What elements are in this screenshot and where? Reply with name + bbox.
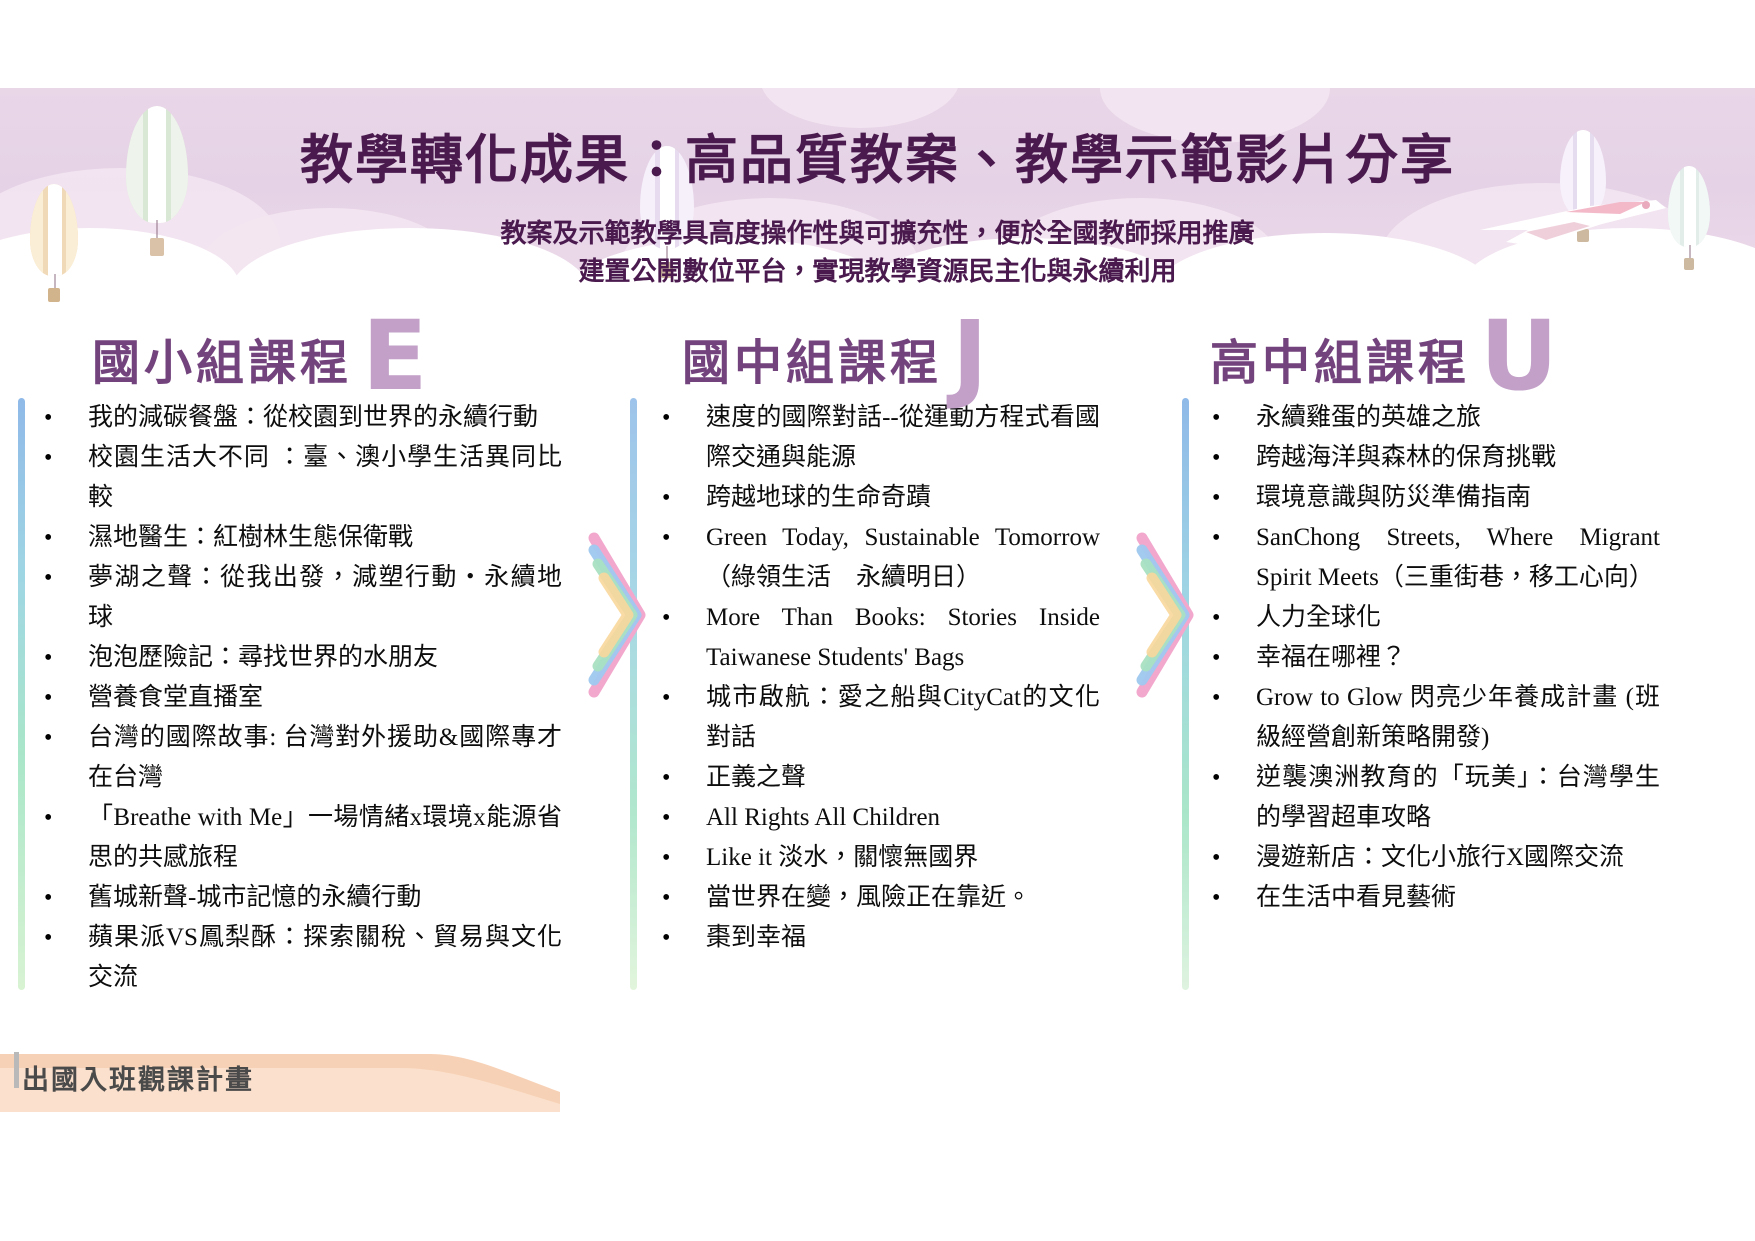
list-item[interactable]: 濕地醫生：紅樹林生態保衛戰 <box>22 518 562 558</box>
list-item[interactable]: 城市啟航：愛之船與CityCat的文化對話 <box>640 678 1100 758</box>
list-item[interactable]: 永續雞蛋的英雄之旅 <box>1190 398 1660 438</box>
list-item[interactable]: 「Breathe with Me」一場情緒x環境x能源省思的共感旅程 <box>22 798 562 878</box>
list-item[interactable]: Like it 淡水，關懷無國界 <box>640 838 1100 878</box>
page-subtitle: 教案及示範教學具高度操作性與可擴充性，便於全國教師採用推廣 建置公開數位平台，實… <box>0 215 1755 291</box>
list-item[interactable]: 夢湖之聲：從我出發，減塑行動‧永續地球 <box>22 558 562 638</box>
list-item[interactable]: 在生活中看見藝術 <box>1190 878 1660 918</box>
list-item[interactable]: 正義之聲 <box>640 758 1100 798</box>
slide-canvas: 教學轉化成果：高品質教案、教學示範影片分享 教案及示範教學具高度操作性與可擴充性… <box>0 0 1755 1241</box>
column-heading-junior-high: 國中組課程 J <box>682 310 988 388</box>
column-letter-badge: J <box>952 317 988 396</box>
list-item[interactable]: Grow to Glow 閃亮少年養成計畫 (班級經營創新策略開發) <box>1190 678 1660 758</box>
page-title: 教學轉化成果：高品質教案、教學示範影片分享 <box>0 118 1755 194</box>
subtitle-line-2: 建置公開數位平台，實現教學資源民主化與永續利用 <box>0 253 1755 291</box>
list-item[interactable]: 泡泡歷險記：尋找世界的水朋友 <box>22 638 562 678</box>
list-item[interactable]: 棗到幸福 <box>640 918 1100 958</box>
column-letter-badge: E <box>362 317 428 396</box>
list-item[interactable]: 速度的國際對話--從運動方程式看國際交通與能源 <box>640 398 1100 478</box>
course-list: 永續雞蛋的英雄之旅 跨越海洋與森林的保育挑戰 環境意識與防災準備指南 SanCh… <box>1190 398 1660 918</box>
footer-accent-bar <box>14 1052 19 1088</box>
list-item[interactable]: 當世界在變，風險正在靠近。 <box>640 878 1100 918</box>
list-item[interactable]: 台灣的國際故事: 台灣對外援助&國際專才在台灣 <box>22 718 562 798</box>
list-item[interactable]: More Than Books: Stories Inside Taiwanes… <box>640 598 1100 678</box>
list-item[interactable]: 營養食堂直播室 <box>22 678 562 718</box>
column-heading-label: 國中組課程 <box>682 340 942 388</box>
course-list: 速度的國際對話--從運動方程式看國際交通與能源 跨越地球的生命奇蹟 Green … <box>640 398 1100 958</box>
list-item[interactable]: 蘋果派VS鳳梨酥：探索關稅、貿易與文化交流 <box>22 918 562 998</box>
list-item[interactable]: All Rights All Children <box>640 798 1100 838</box>
list-item[interactable]: 跨越海洋與森林的保育挑戰 <box>1190 438 1660 478</box>
course-list-elementary: 我的減碳餐盤：從校園到世界的永續行動 校園生活大不同 ：臺、澳小學生活異同比較 … <box>22 398 562 998</box>
column-letter-badge: U <box>1480 317 1558 396</box>
list-item[interactable]: 環境意識與防災準備指南 <box>1190 478 1660 518</box>
subtitle-line-1: 教案及示範教學具高度操作性與可擴充性，便於全國教師採用推廣 <box>0 215 1755 253</box>
column-heading-label: 高中組課程 <box>1210 340 1470 388</box>
column-heading-senior-high: 高中組課程 U <box>1210 310 1558 388</box>
list-item[interactable]: 我的減碳餐盤：從校園到世界的永續行動 <box>22 398 562 438</box>
footer-label: 出國入班觀課計畫 <box>22 1058 254 1097</box>
column-heading-label: 國小組課程 <box>92 340 352 388</box>
list-item[interactable]: 人力全球化 <box>1190 598 1660 638</box>
course-list-junior-high: 速度的國際對話--從運動方程式看國際交通與能源 跨越地球的生命奇蹟 Green … <box>640 398 1100 958</box>
list-item[interactable]: 跨越地球的生命奇蹟 <box>640 478 1100 518</box>
list-item[interactable]: SanChong Streets, Where Migrant Spirit M… <box>1190 518 1660 598</box>
list-item[interactable]: 舊城新聲-城市記憶的永續行動 <box>22 878 562 918</box>
list-item[interactable]: 校園生活大不同 ：臺、澳小學生活異同比較 <box>22 438 562 518</box>
column-heading-elementary: 國小組課程 E <box>92 310 428 388</box>
list-item[interactable]: 逆襲澳洲教育的「玩美」：台灣學生的學習超車攻略 <box>1190 758 1660 838</box>
list-item[interactable]: 幸福在哪裡？ <box>1190 638 1660 678</box>
course-list-senior-high: 永續雞蛋的英雄之旅 跨越海洋與森林的保育挑戰 環境意識與防災準備指南 SanCh… <box>1190 398 1660 918</box>
list-item[interactable]: Green Today, Sustainable Tomorrow（綠領生活 永… <box>640 518 1100 598</box>
course-list: 我的減碳餐盤：從校園到世界的永續行動 校園生活大不同 ：臺、澳小學生活異同比較 … <box>22 398 562 998</box>
list-item[interactable]: 漫遊新店：文化小旅行X國際交流 <box>1190 838 1660 878</box>
